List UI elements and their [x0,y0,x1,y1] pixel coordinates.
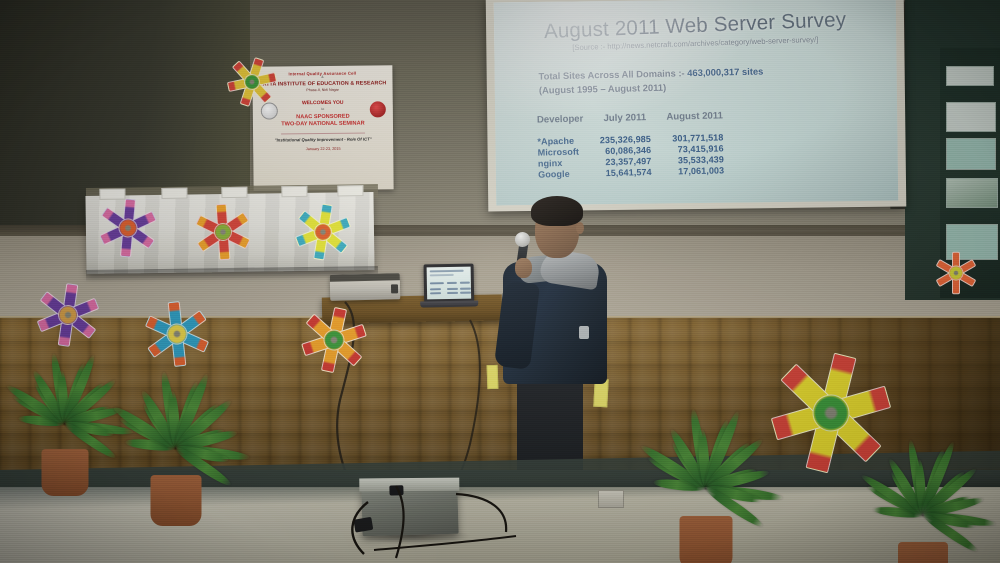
flower-table-purple [98,198,159,259]
nameplate [337,185,363,196]
potted-fern-left [6,372,124,496]
cell-july: 15,641,574 [600,166,667,179]
wall-socket[interactable] [598,490,624,508]
flower-wall-orange [296,302,372,378]
board-poster [946,138,996,170]
auditorium-photo: August 2011 Web Server Survey [Source :-… [0,0,1000,563]
flower-table-red [194,203,252,261]
nameplate [281,186,307,197]
presenter-ear [576,222,584,234]
fern-fronds [860,460,986,563]
banner-seminar-line: TWO-DAY NATIONAL SEMINAR [253,121,393,128]
flower-table-yellow [292,201,354,263]
naac-logo-icon [370,101,386,117]
flower-wall-purple [34,281,102,349]
total-sites-label: Total Sites Across All Domains :- [538,68,684,82]
screen-surface: August 2011 Web Server Survey [Source :-… [494,0,898,205]
potted-fern-right [640,430,772,563]
presenter-hair [531,196,583,226]
board-poster [946,102,996,132]
microphone-icon [514,231,531,248]
presenter-hand [515,258,532,278]
presenter-badge [579,326,589,339]
banner-date: January 22-23, 2015 [253,146,393,151]
fern-fronds [112,392,240,526]
banner-theme: "Institutional Quality Improvement - Rol… [253,137,393,143]
column-header-july: July 2011 [599,111,667,135]
presentation-slide: August 2011 Web Server Survey [Source :-… [494,0,898,205]
total-sites-range: (August 1995 – August 2011) [539,82,667,96]
column-header-developer: Developer [535,113,600,136]
column-header-august: August 2011 [666,110,739,134]
slide-total-sites: Total Sites Across All Domains :- 463,00… [520,63,871,99]
potted-fern-far [860,460,986,563]
nameplate [161,188,187,199]
board-poster [946,178,998,208]
nameplate [221,187,247,198]
total-sites-value: 463,000,317 sites [687,66,763,79]
potted-fern-center [112,392,240,526]
flower-center [949,266,964,281]
projection-screen: August 2011 Web Server Survey [Source :-… [486,0,907,212]
fern-fronds [6,372,124,496]
fern-fronds [640,430,772,563]
board-poster [946,66,994,86]
cell-august: 17,061,003 [668,165,741,178]
flower-board-orange [935,252,977,294]
banner-divider [281,132,365,134]
web-server-table: Developer July 2011 August 2011 *Apache … [535,110,741,181]
flower-wall-cyan [143,300,211,368]
cell-developer: Google [536,168,601,180]
floor-cables [330,480,590,563]
web-server-table-wrap: Developer July 2011 August 2011 *Apache … [521,107,872,181]
